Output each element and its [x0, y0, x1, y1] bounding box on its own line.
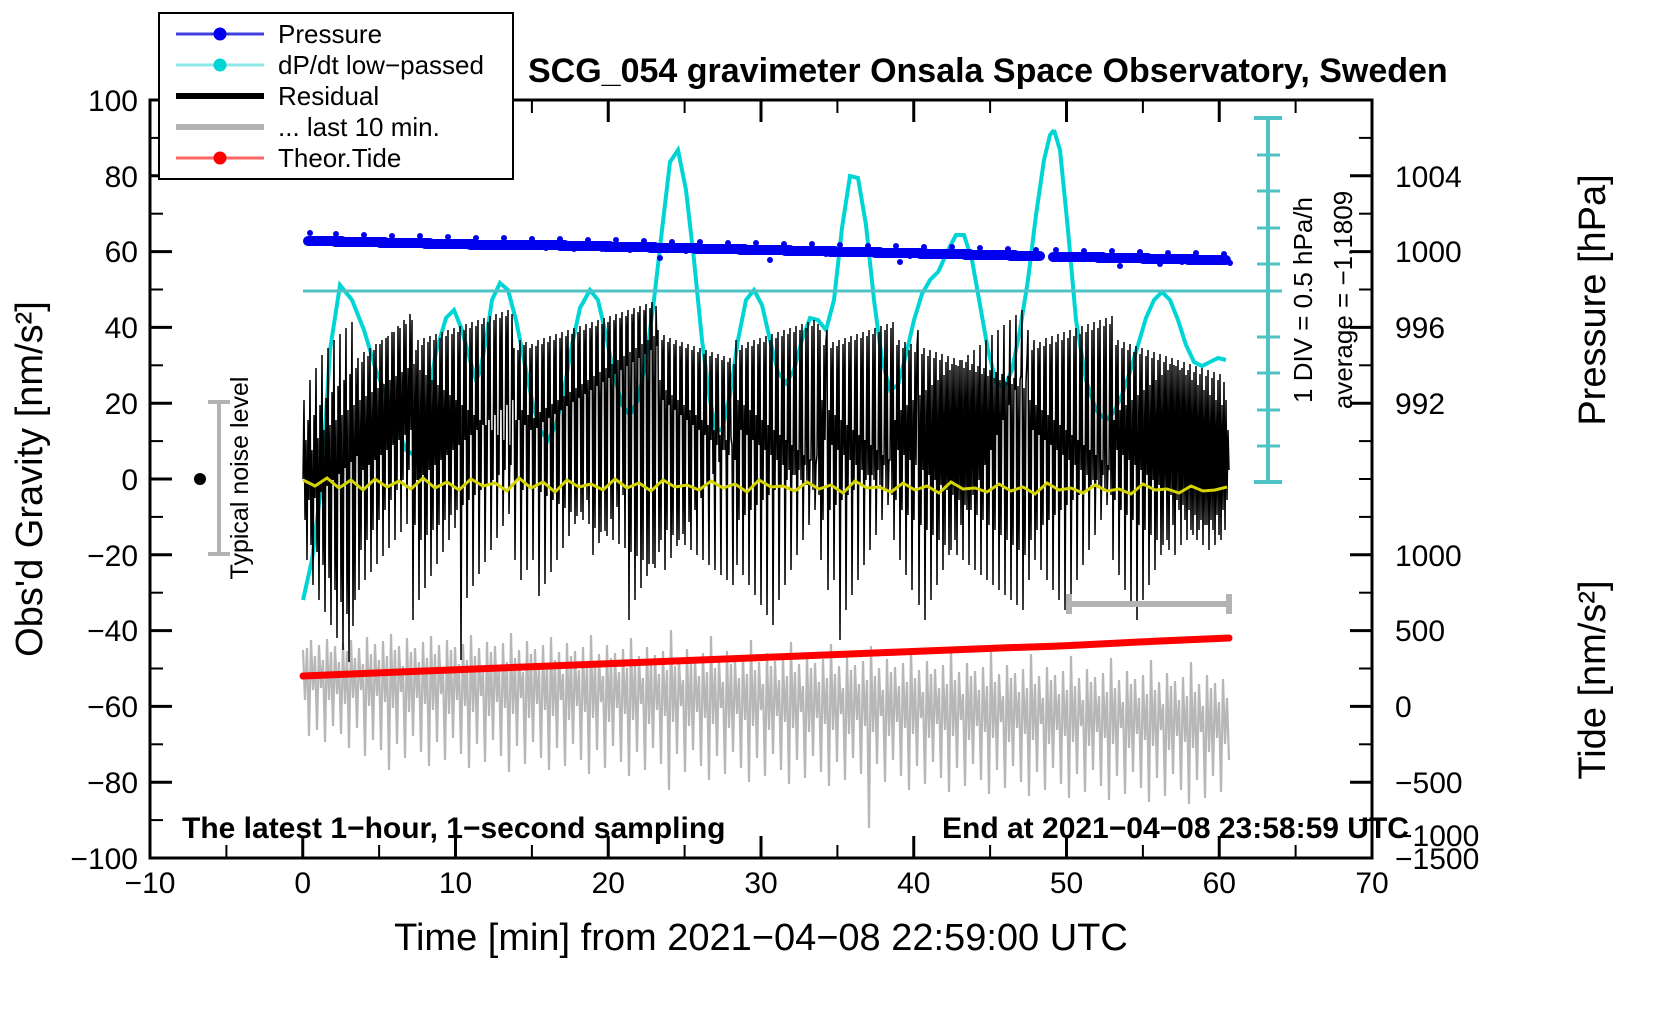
- svg-text:40: 40: [897, 867, 930, 900]
- legend-swatch-pressure: [176, 24, 264, 44]
- svg-text:60: 60: [1203, 867, 1236, 900]
- legend-swatch-last10min: [176, 117, 264, 137]
- legend-label-dpdt: dP/dt low−passed: [278, 52, 484, 78]
- svg-text:20: 20: [105, 388, 138, 421]
- div-scale-label: 1 DIV = 0.5 hPa/h: [1288, 197, 1318, 403]
- svg-text:70: 70: [1355, 867, 1388, 900]
- legend-swatch-theortide: [176, 148, 264, 168]
- legend-swatch-residual: [176, 86, 264, 106]
- svg-text:0: 0: [121, 464, 138, 497]
- svg-text:20: 20: [592, 867, 625, 900]
- legend-label-last10min: ... last 10 min.: [278, 114, 440, 140]
- legend-item-last10min[interactable]: ... last 10 min.: [160, 112, 512, 143]
- svg-text:−80: −80: [87, 767, 138, 800]
- svg-text:1004: 1004: [1395, 161, 1462, 194]
- y-axis-label-pressure: Pressure [hPa]: [1572, 174, 1614, 425]
- svg-text:60: 60: [105, 236, 138, 269]
- svg-text:−1500: −1500: [1395, 843, 1479, 876]
- chart-root: −10 0 10 20 30 40 50 60 70 100 80 60 40 …: [0, 0, 1660, 1020]
- legend-swatch-dpdt: [176, 55, 264, 75]
- svg-text:1000: 1000: [1395, 540, 1462, 573]
- legend-item-dpdt[interactable]: dP/dt low−passed: [160, 50, 512, 81]
- y-axis-label-tide: Tide [nm/s²]: [1572, 580, 1614, 779]
- svg-text:992: 992: [1395, 388, 1445, 421]
- chart-legend: Pressure dP/dt low−passed Residual ... l…: [158, 12, 514, 180]
- svg-text:100: 100: [88, 85, 138, 118]
- x-axis-label: Time [min] from 2021−04−08 22:59:00 UTC: [394, 917, 1128, 959]
- legend-label-pressure: Pressure: [278, 21, 382, 47]
- legend-label-theortide: Theor.Tide: [278, 145, 401, 171]
- svg-text:1000: 1000: [1395, 236, 1462, 269]
- svg-text:40: 40: [105, 312, 138, 345]
- legend-item-residual[interactable]: Residual: [160, 81, 512, 112]
- noise-center-dot: [194, 473, 206, 485]
- typical-noise-level-label: Typical noise level: [226, 377, 254, 580]
- legend-item-theortide[interactable]: Theor.Tide: [160, 143, 512, 174]
- svg-text:0: 0: [294, 867, 311, 900]
- svg-text:−500: −500: [1395, 767, 1463, 800]
- svg-text:10: 10: [439, 867, 472, 900]
- svg-text:50: 50: [1050, 867, 1083, 900]
- bottom-left-annotation: The latest 1−hour, 1−second sampling: [182, 812, 726, 845]
- svg-text:−100: −100: [70, 843, 138, 876]
- svg-text:996: 996: [1395, 312, 1445, 345]
- chart-title: SCG_054 gravimeter Onsala Space Observat…: [528, 52, 1448, 90]
- svg-text:−60: −60: [87, 691, 138, 724]
- svg-text:0: 0: [1395, 691, 1412, 724]
- svg-text:80: 80: [105, 161, 138, 194]
- svg-text:500: 500: [1395, 615, 1445, 648]
- bottom-right-annotation: End at 2021−04−08 23:58:59 UTC: [942, 812, 1409, 845]
- legend-label-residual: Residual: [278, 83, 379, 109]
- svg-text:30: 30: [744, 867, 777, 900]
- svg-text:−40: −40: [87, 615, 138, 648]
- y-axis-label-left: Obs'd Gravity [nm/s²]: [9, 301, 51, 657]
- average-label: average = −1.1809: [1328, 191, 1358, 409]
- legend-item-pressure[interactable]: Pressure: [160, 19, 512, 50]
- svg-text:−20: −20: [87, 540, 138, 573]
